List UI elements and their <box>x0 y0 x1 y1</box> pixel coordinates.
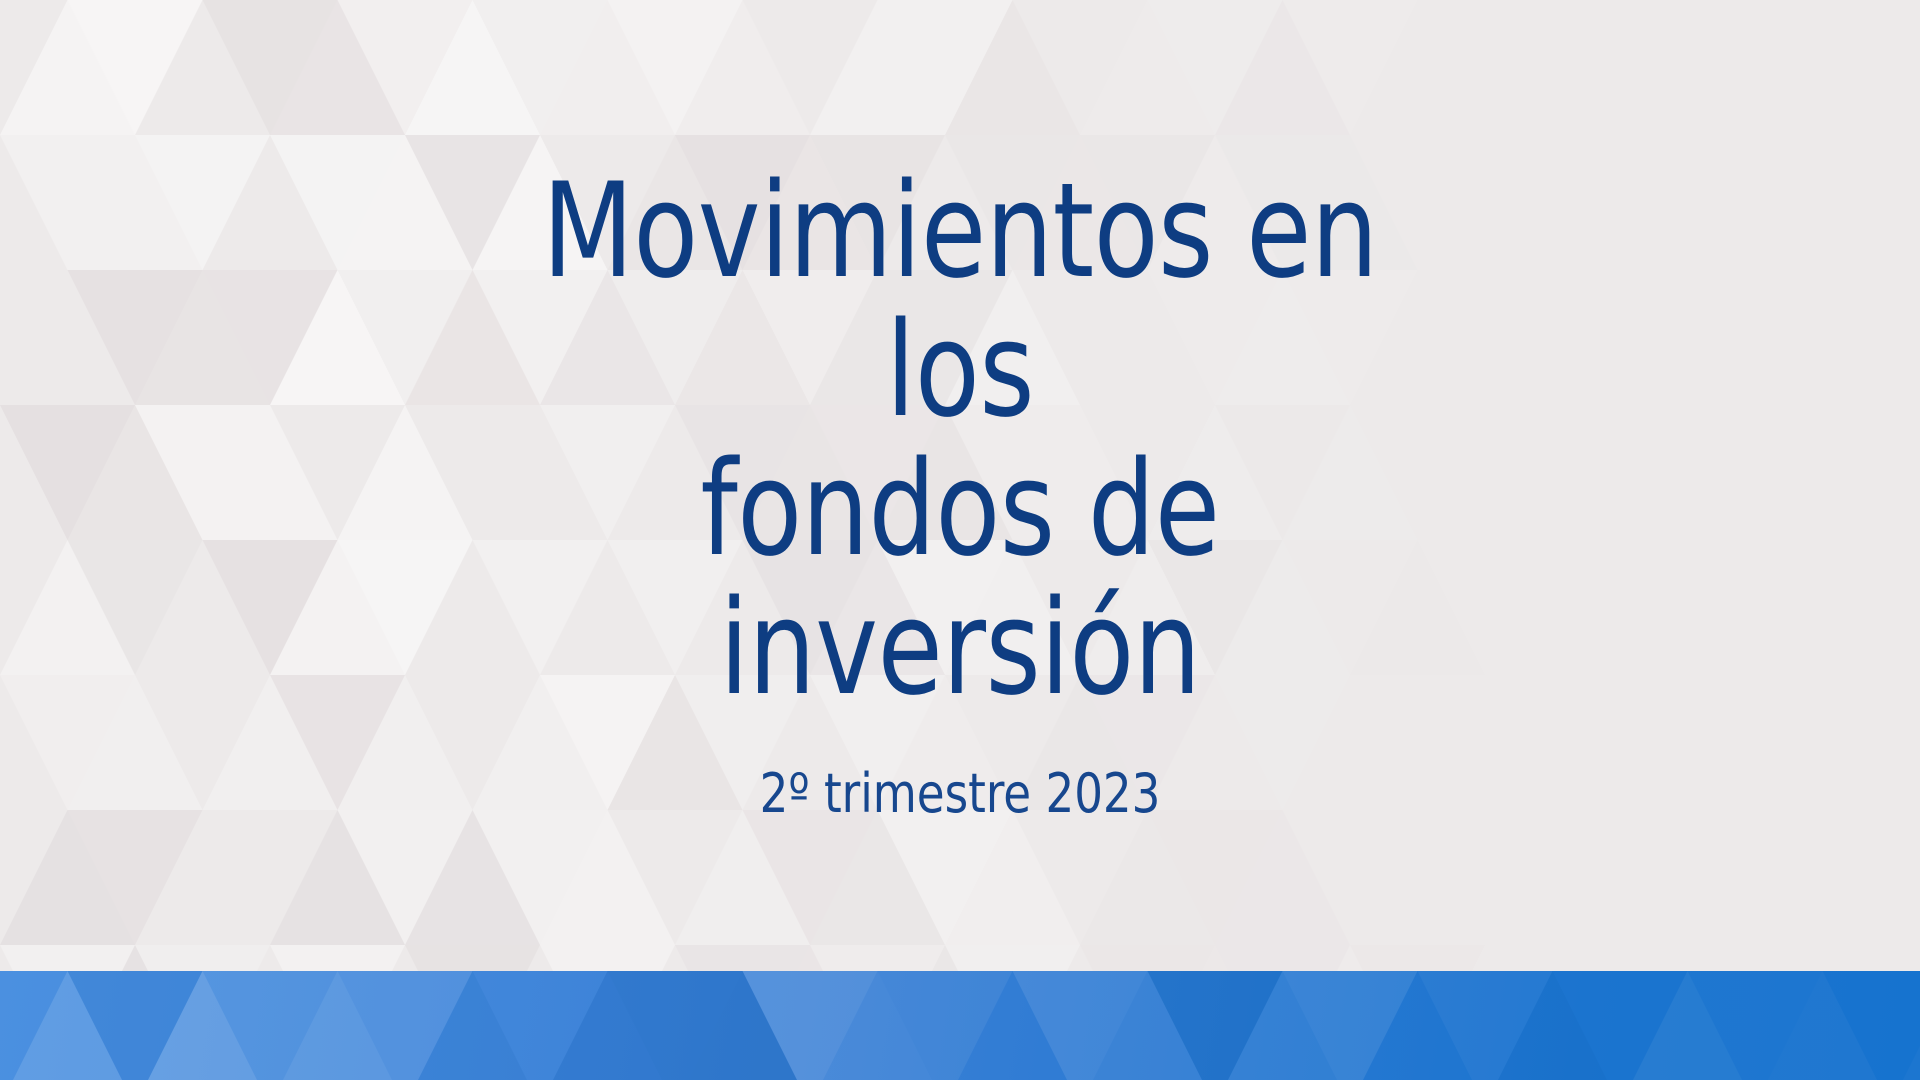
page-subtitle: 2º trimestre 2023 <box>449 762 1472 827</box>
page-title: Movimientos en los fondos de inversión <box>465 162 1455 717</box>
slide-content: Movimientos en los fondos de inversión 2… <box>0 0 1920 971</box>
title-block: Movimientos en los fondos de inversión 2… <box>410 162 1510 826</box>
title-slide: Movimientos en los fondos de inversión 2… <box>0 0 1920 1080</box>
slide-footer-band <box>0 971 1920 1080</box>
triangle-pattern-blue <box>0 971 1920 1080</box>
